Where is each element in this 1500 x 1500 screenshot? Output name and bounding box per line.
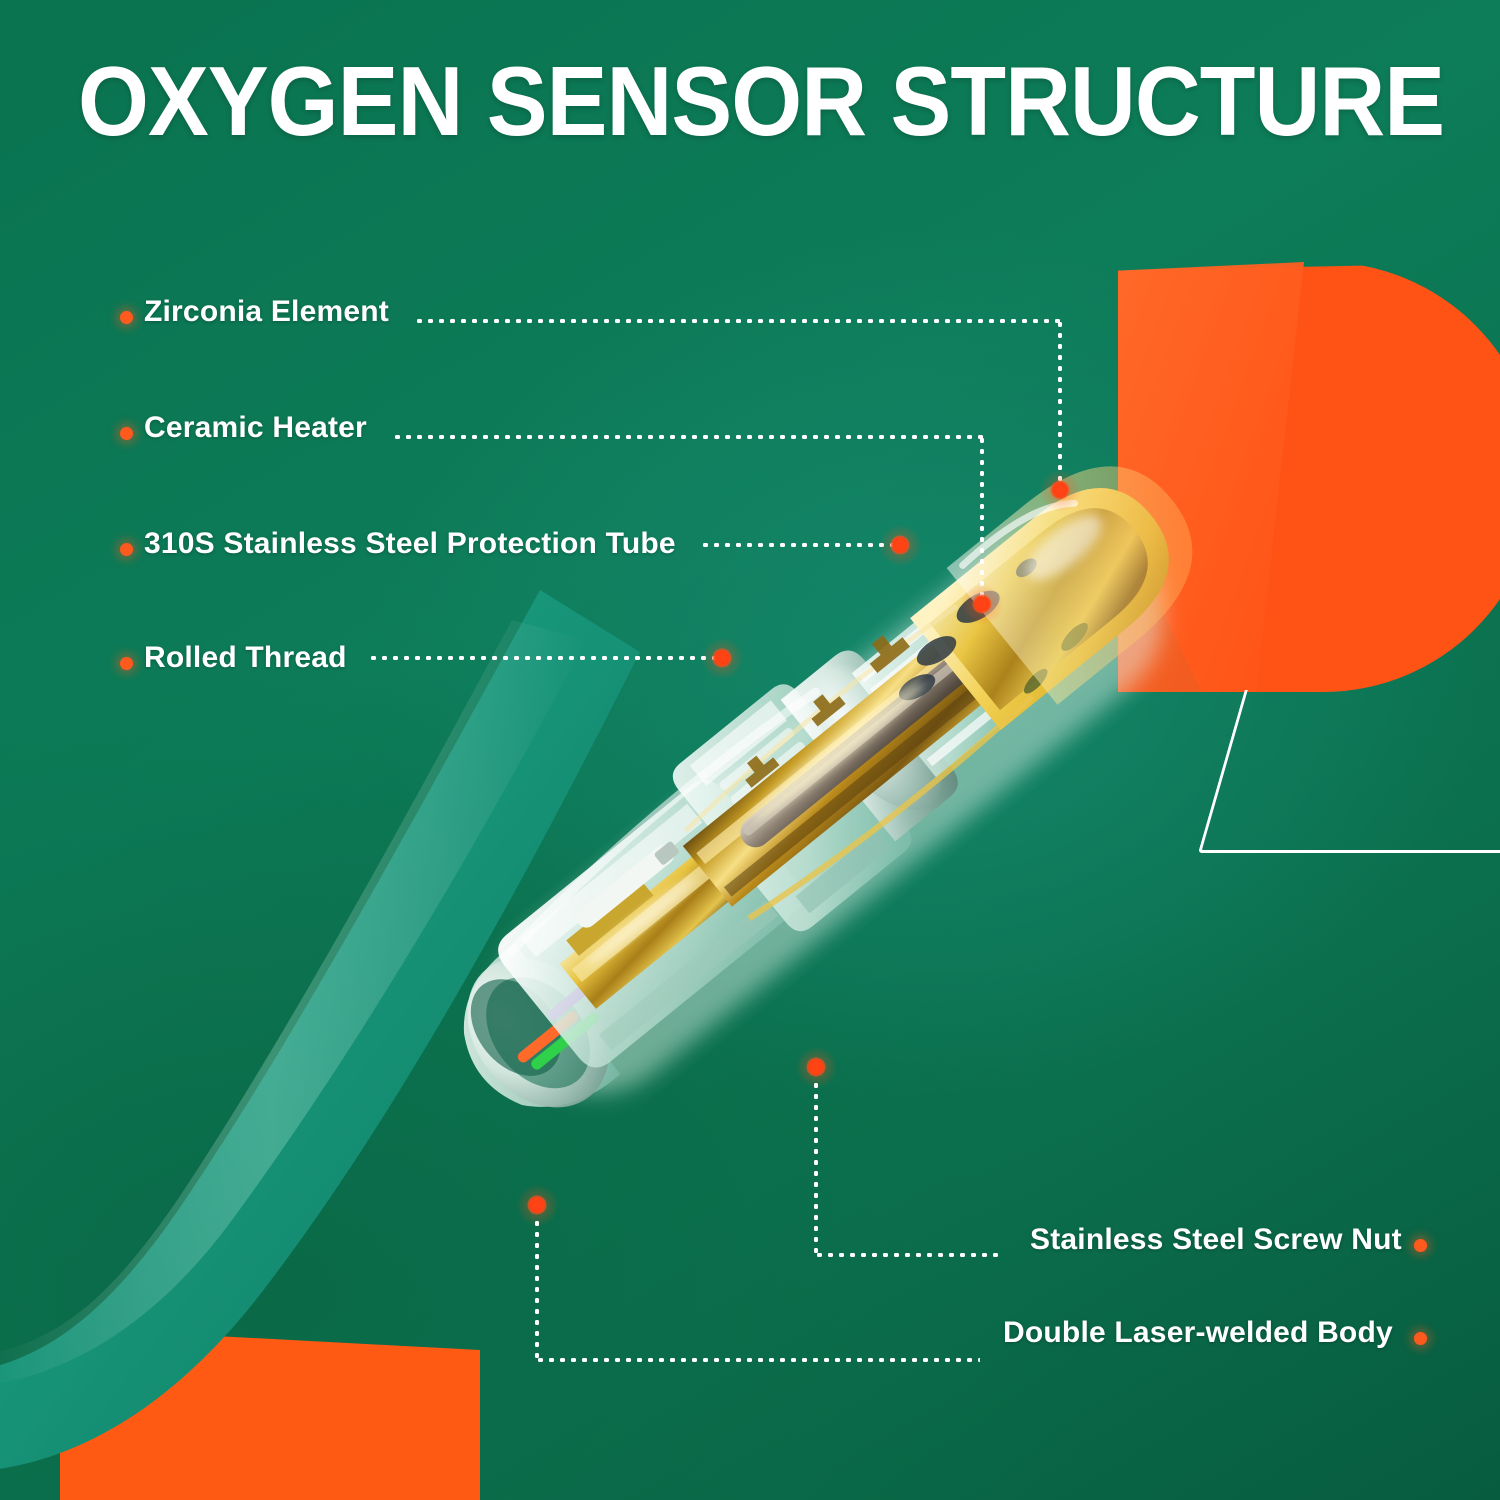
leader-line-zirconia-horizontal <box>414 319 1062 323</box>
endpoint-protection-tube <box>891 536 910 555</box>
bullet-zirconia-element <box>120 311 133 324</box>
endpoint-screw-nut <box>807 1058 826 1077</box>
endpoint-laser-welded-body <box>528 1196 547 1215</box>
leader-line-screw-nut-horizontal <box>814 1253 1004 1257</box>
leader-line-body-vertical <box>535 1218 539 1360</box>
leader-line-zirconia-vertical <box>1058 319 1062 492</box>
bullet-screw-nut <box>1414 1239 1427 1252</box>
endpoint-ceramic-heater <box>973 595 992 614</box>
label-protection-tube[interactable]: 310S Stainless Steel Protection Tube <box>144 529 676 559</box>
label-ceramic-heater[interactable]: Ceramic Heater <box>144 413 367 443</box>
leader-line-heater-vertical <box>980 435 984 606</box>
bullet-rolled-thread <box>120 657 133 670</box>
endpoint-zirconia-element <box>1051 481 1070 500</box>
label-zirconia-element[interactable]: Zirconia Element <box>144 297 389 327</box>
oxygen-sensor-illustration <box>300 300 1300 1300</box>
leader-line-screw-nut-vertical <box>814 1080 818 1255</box>
label-rolled-thread[interactable]: Rolled Thread <box>144 643 347 673</box>
leader-line-heater-horizontal <box>392 435 984 439</box>
leader-line-body-horizontal <box>535 1358 980 1362</box>
infographic-canvas: OXYGEN SENSOR STRUCTURE Zirconia Element… <box>0 0 1500 1500</box>
leader-line-rolled-thread <box>368 656 720 660</box>
page-title: OXYGEN SENSOR STRUCTURE <box>78 52 1444 150</box>
bullet-laser-welded-body <box>1414 1332 1427 1345</box>
label-laser-welded-body[interactable]: Double Laser-welded Body <box>1003 1318 1393 1348</box>
bullet-protection-tube <box>120 543 133 556</box>
endpoint-rolled-thread <box>713 649 732 668</box>
label-screw-nut[interactable]: Stainless Steel Screw Nut <box>1030 1225 1402 1255</box>
bullet-ceramic-heater <box>120 427 133 440</box>
leader-line-protection-tube <box>700 543 898 547</box>
